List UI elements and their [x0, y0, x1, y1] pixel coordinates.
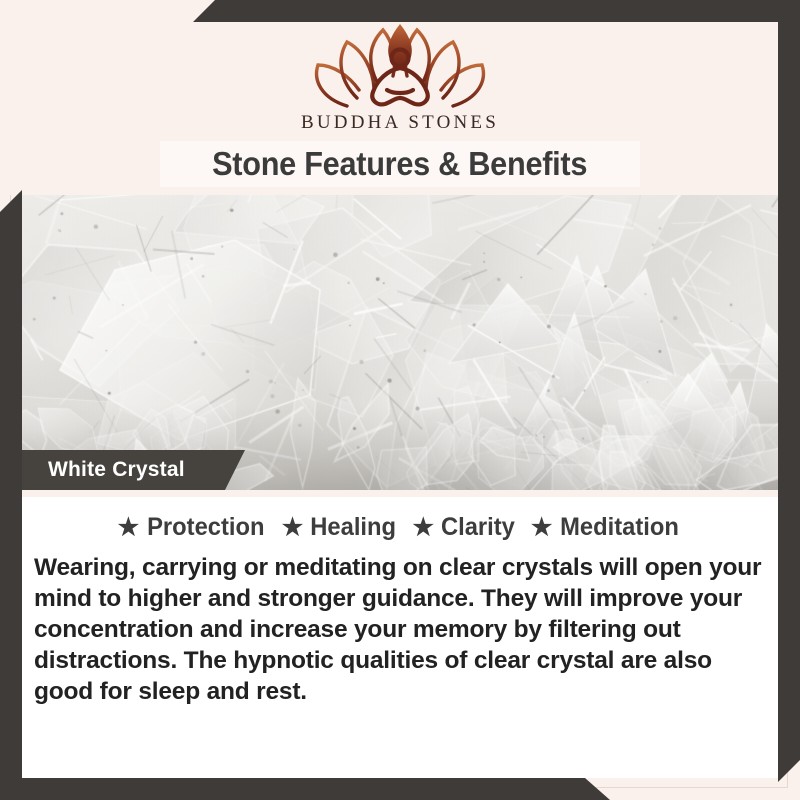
photo-caption-text: White Crystal: [20, 458, 185, 482]
frame-bottom-decoration: [0, 778, 800, 800]
product-photo: [20, 195, 780, 490]
benefits-list: ★Protection★Healing★Clarity★Meditation: [22, 497, 778, 542]
brand-name: BUDDHA STONES: [0, 112, 800, 134]
star-icon: ★: [531, 516, 553, 540]
photo-caption-bar: White Crystal: [20, 450, 245, 490]
benefit-label: Clarity: [441, 513, 515, 542]
section-title-bar: Stone Features & Benefits: [160, 141, 640, 187]
page-title: Stone Features & Benefits: [212, 145, 587, 183]
crystal-cluster-image: [20, 195, 780, 490]
description-text: Wearing, carrying or meditating on clear…: [34, 552, 766, 708]
benefit-item: ★Meditation: [531, 513, 683, 542]
star-icon: ★: [413, 516, 435, 540]
star-icon: ★: [118, 516, 140, 540]
frame-right-decoration: [778, 0, 800, 800]
lotus-meditation-figure-icon: [307, 18, 493, 110]
benefit-label: Healing: [311, 513, 397, 542]
card-header: BUDDHA STONES Stone Features & Benefits: [0, 0, 800, 195]
benefit-item: ★Clarity: [413, 513, 517, 542]
benefit-label: Protection: [147, 513, 264, 542]
card-content: ★Protection★Healing★Clarity★Meditation W…: [22, 497, 778, 778]
product-info-card: BUDDHA STONES Stone Features & Benefits …: [0, 0, 800, 800]
benefit-item: ★Protection: [118, 513, 268, 542]
star-icon: ★: [282, 516, 304, 540]
benefit-item: ★Healing: [282, 513, 399, 542]
brand-logo: BUDDHA STONES: [0, 18, 800, 134]
benefit-label: Meditation: [561, 513, 680, 542]
